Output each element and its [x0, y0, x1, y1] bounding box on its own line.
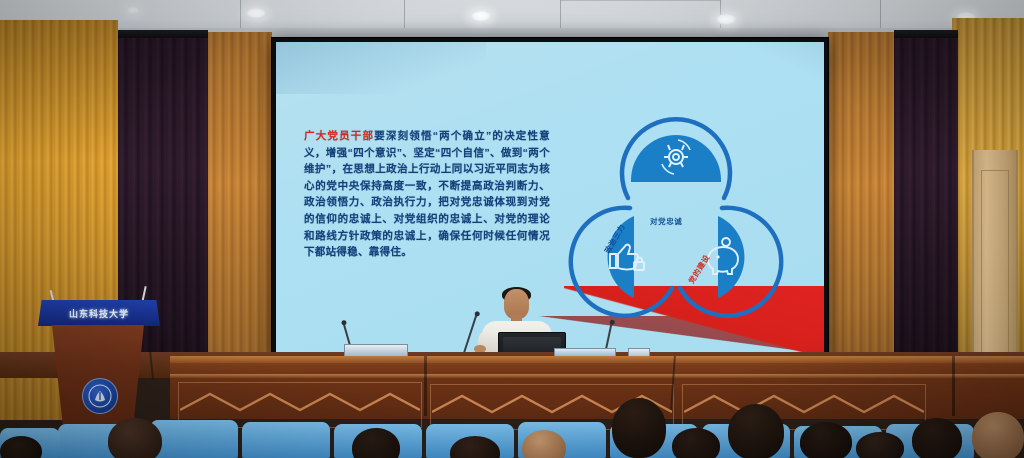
podium-banner-text: 山东科技大学 [44, 305, 154, 321]
screen-glare [276, 42, 486, 94]
desk-top-edge [170, 356, 1024, 363]
right-curtain [894, 30, 958, 370]
audience-head [612, 398, 666, 458]
audience-head [108, 418, 162, 458]
audience-head [912, 418, 962, 458]
audience-head [672, 428, 720, 458]
recessed-downlight [715, 14, 737, 25]
curtain-track [118, 30, 208, 38]
auditorium-seat [150, 420, 238, 458]
diagram-label-top: 对党忠诚 [650, 216, 682, 227]
desk-molding [170, 374, 1024, 378]
podium: 山东科技大学 [38, 300, 160, 428]
desk-seam [424, 356, 427, 416]
recessed-downlight [470, 11, 492, 22]
left-wood-panel [208, 32, 272, 368]
recessed-downlight [245, 8, 267, 19]
audience-head [522, 430, 566, 458]
ceiling-vent [560, 0, 720, 1]
audience-head [972, 412, 1024, 458]
recessed-downlight [126, 7, 140, 14]
three-circle-diagram: 对党忠诚 政治三力 党的建设 [568, 112, 784, 324]
slide-highlight-text: 广大党员干部 [304, 130, 374, 142]
slide-rest-text: 要深刻领悟“两个确立”的决定性意义，增强“四个意识”、坚定“四个自信”、做到“两… [304, 130, 550, 258]
right-wood-panel [828, 32, 894, 368]
curtain-track [894, 30, 958, 38]
auditorium-seat [242, 422, 330, 458]
auditorium-photo: 广大党员干部要深刻领悟“两个确立”的决定性意义，增强“四个意识”、坚定“四个自信… [0, 0, 1024, 458]
audience-head [728, 404, 784, 458]
university-emblem-icon [82, 378, 118, 414]
audience-head [800, 422, 852, 458]
audience-head [0, 436, 42, 458]
audience-head [856, 432, 904, 458]
desk-seam [952, 356, 955, 416]
slide-body-text: 广大党员干部要深刻领悟“两个确立”的决定性意义，增强“四个意识”、坚定“四个自信… [304, 128, 550, 261]
